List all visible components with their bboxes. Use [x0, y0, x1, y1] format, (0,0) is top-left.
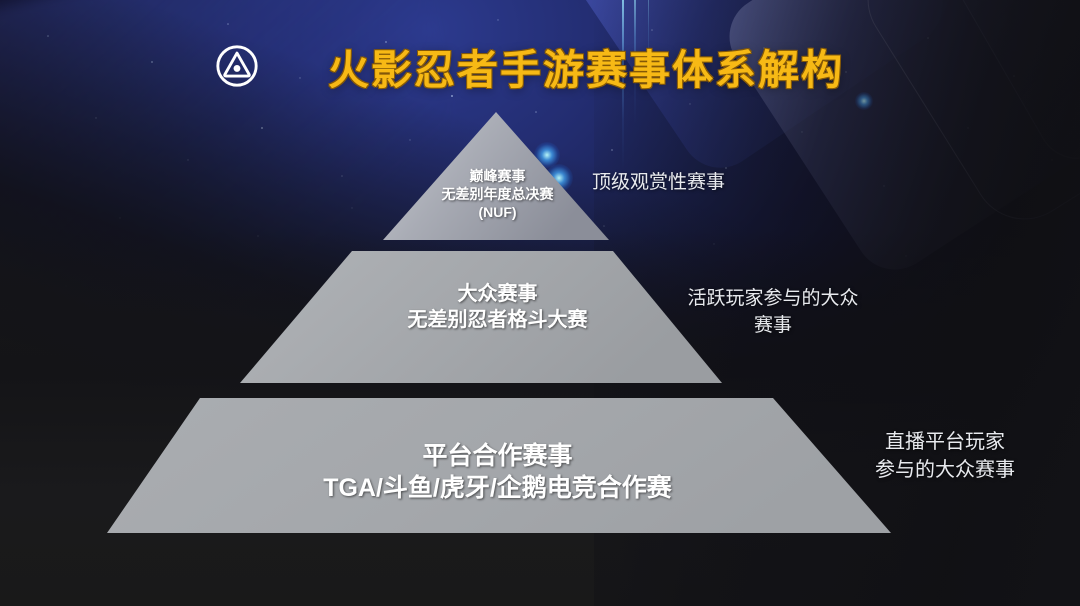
pyramid-tier-2-note: 活跃玩家参与的大众 赛事 [668, 286, 878, 340]
tier-2-note-line-2: 赛事 [754, 315, 792, 336]
tier-1-note-line-1: 顶级观赏性赛事 [592, 172, 725, 193]
tier-3-note-line-1: 直播平台玩家 [885, 431, 1005, 453]
pyramid-tier-2-shape[interactable] [240, 251, 722, 383]
pyramid-diagram [0, 0, 1080, 606]
tier-3-note-line-2: 参与的大众赛事 [875, 459, 1015, 481]
pyramid-tier-3-shape[interactable] [107, 398, 891, 533]
slide-canvas: 火影忍者手游赛事体系解构 巅峰赛事 [0, 0, 1080, 606]
pyramid-tier-3-note: 直播平台玩家 参与的大众赛事 [845, 428, 1045, 485]
pyramid-tier-1-note: 顶级观赏性赛事 [592, 170, 772, 197]
pyramid-tier-1-shape[interactable] [383, 112, 609, 240]
tier-2-note-line-1: 活跃玩家参与的大众 [687, 288, 858, 309]
